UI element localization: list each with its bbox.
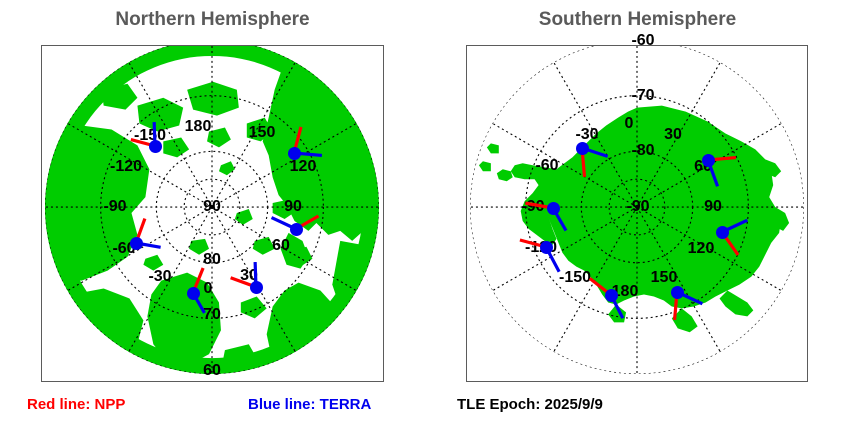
southern-hemisphere-title: Southern Hemisphere xyxy=(425,8,850,32)
satellite-position-dot xyxy=(716,226,729,239)
satellite-ground-track-figure: Northern Hemisphere xyxy=(0,0,850,425)
satellite-position-dot xyxy=(605,289,618,302)
satellite-position-dot xyxy=(149,140,162,153)
satellite-position-dot xyxy=(288,147,301,160)
northern-hemisphere-title: Northern Hemisphere xyxy=(0,8,425,32)
south-lat-label: -60 xyxy=(631,33,654,49)
northern-hemisphere-panel: Northern Hemisphere xyxy=(0,0,425,425)
legend-blue-line-terra: Blue line: TERRA xyxy=(248,396,371,414)
north-lat-label: 60 xyxy=(203,363,221,379)
legend-red-line-npp: Red line: NPP xyxy=(27,396,125,414)
satellite-position-dot xyxy=(290,223,303,236)
satellite-position-dot xyxy=(702,154,715,167)
tle-epoch-label: TLE Epoch: 2025/9/9 xyxy=(457,396,603,414)
